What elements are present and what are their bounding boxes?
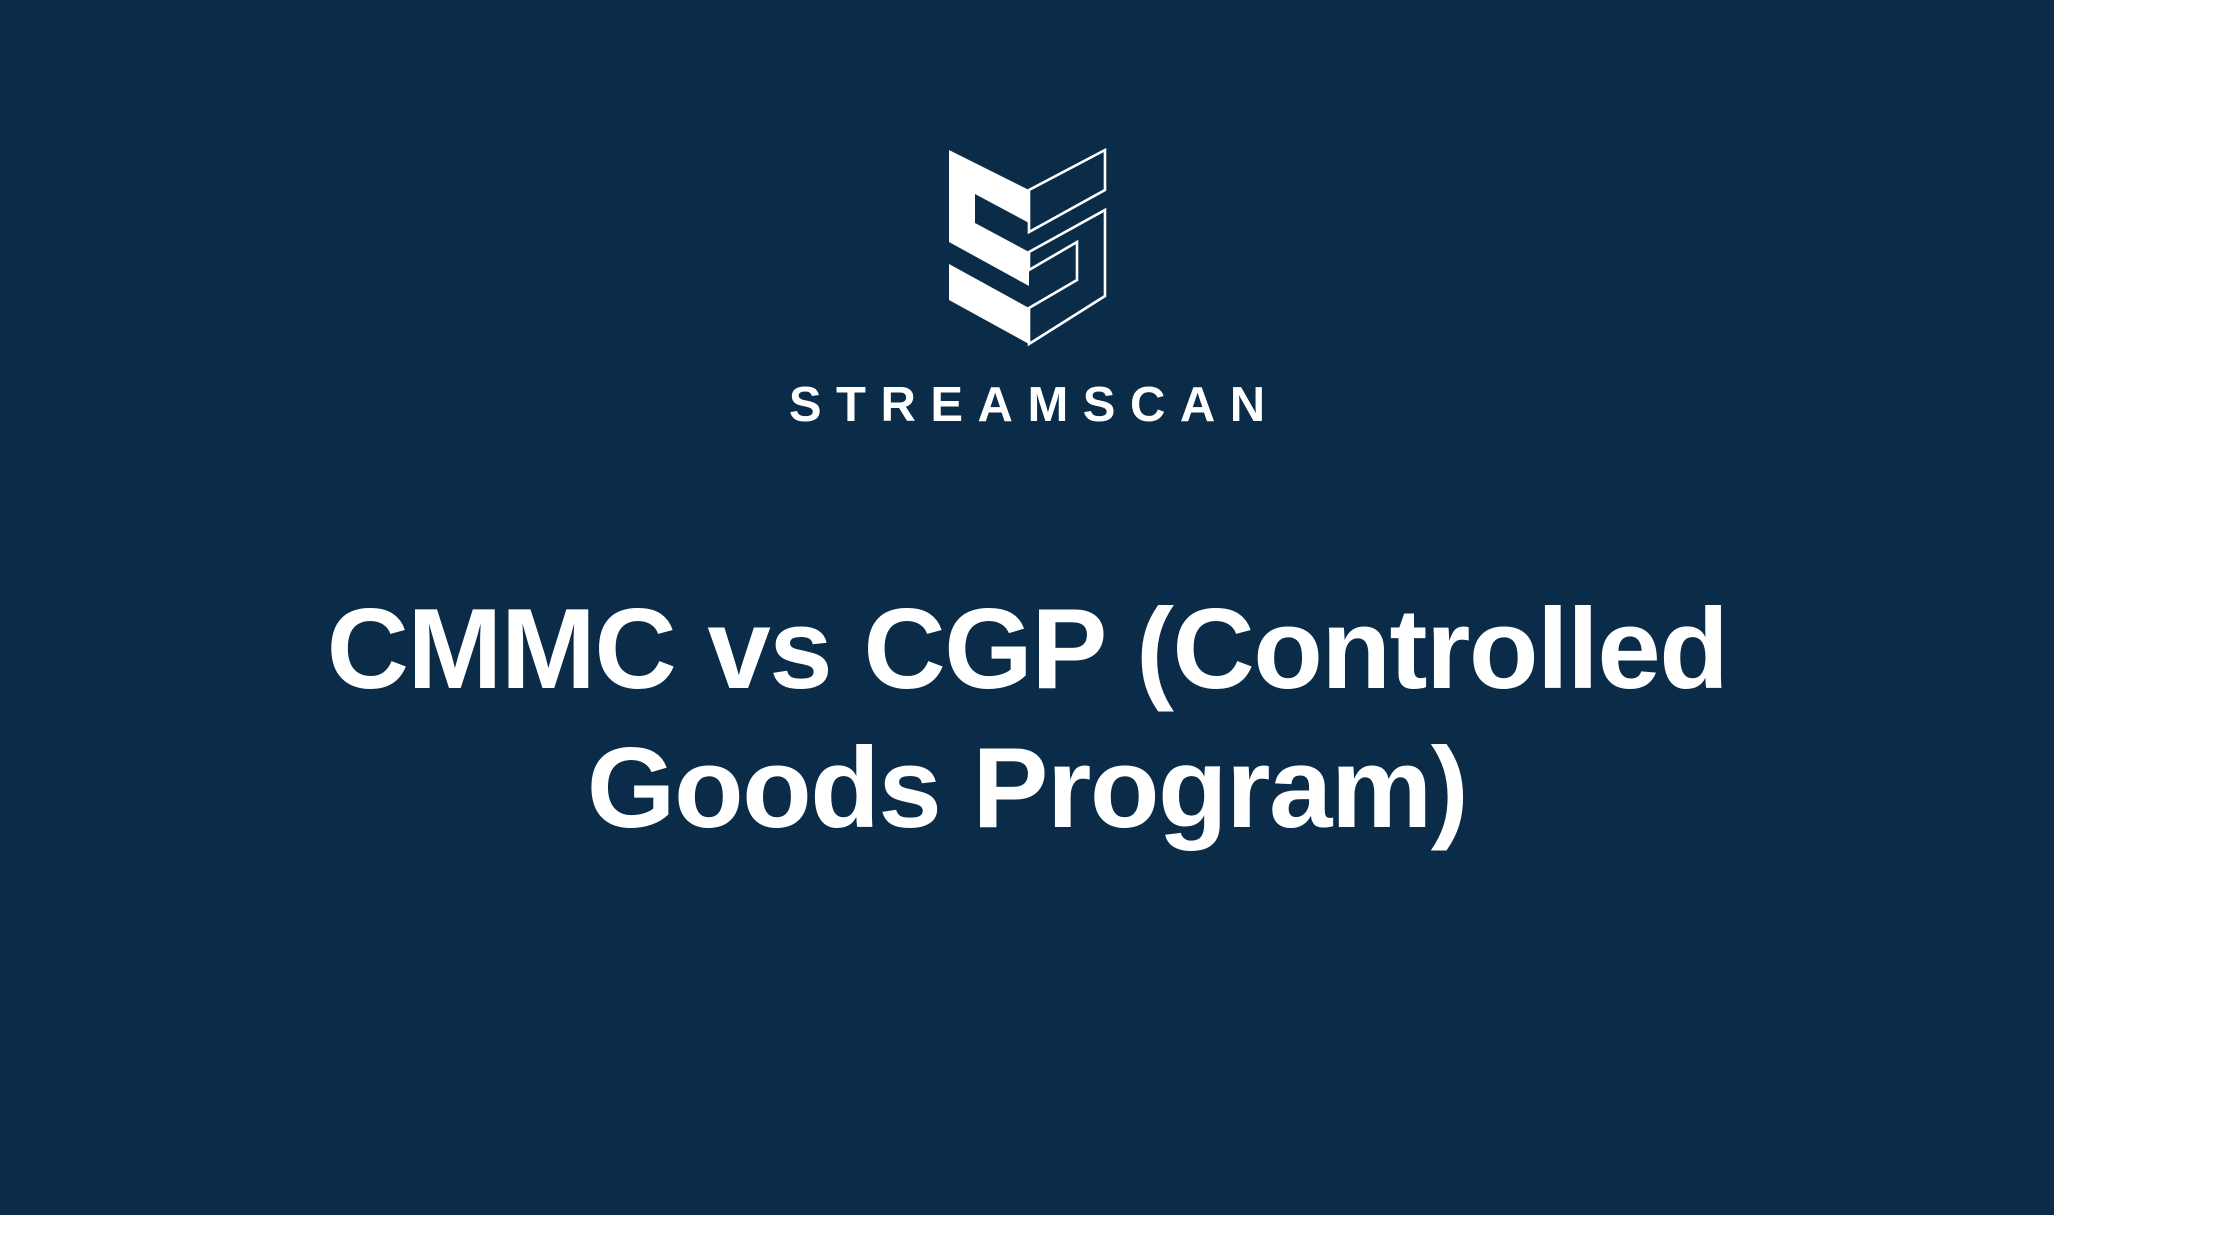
page-title-line-2: Goods Program) — [277, 719, 1777, 858]
streamscan-shield-logo-icon — [941, 146, 1113, 348]
brand-wordmark: STREAMSCAN — [774, 381, 1279, 430]
title-slide-panel: STREAMSCAN CMMC vs CGP (Controlled Goods… — [0, 0, 2054, 1215]
slide-content: STREAMSCAN CMMC vs CGP (Controlled Goods… — [0, 0, 2054, 1215]
page-title-line-1: CMMC vs CGP (Controlled — [277, 580, 1777, 719]
page-title: CMMC vs CGP (Controlled Goods Program) — [277, 580, 1777, 858]
brand-lockup: STREAMSCAN — [774, 146, 1279, 430]
slide-canvas: STREAMSCAN CMMC vs CGP (Controlled Goods… — [0, 0, 2240, 1260]
